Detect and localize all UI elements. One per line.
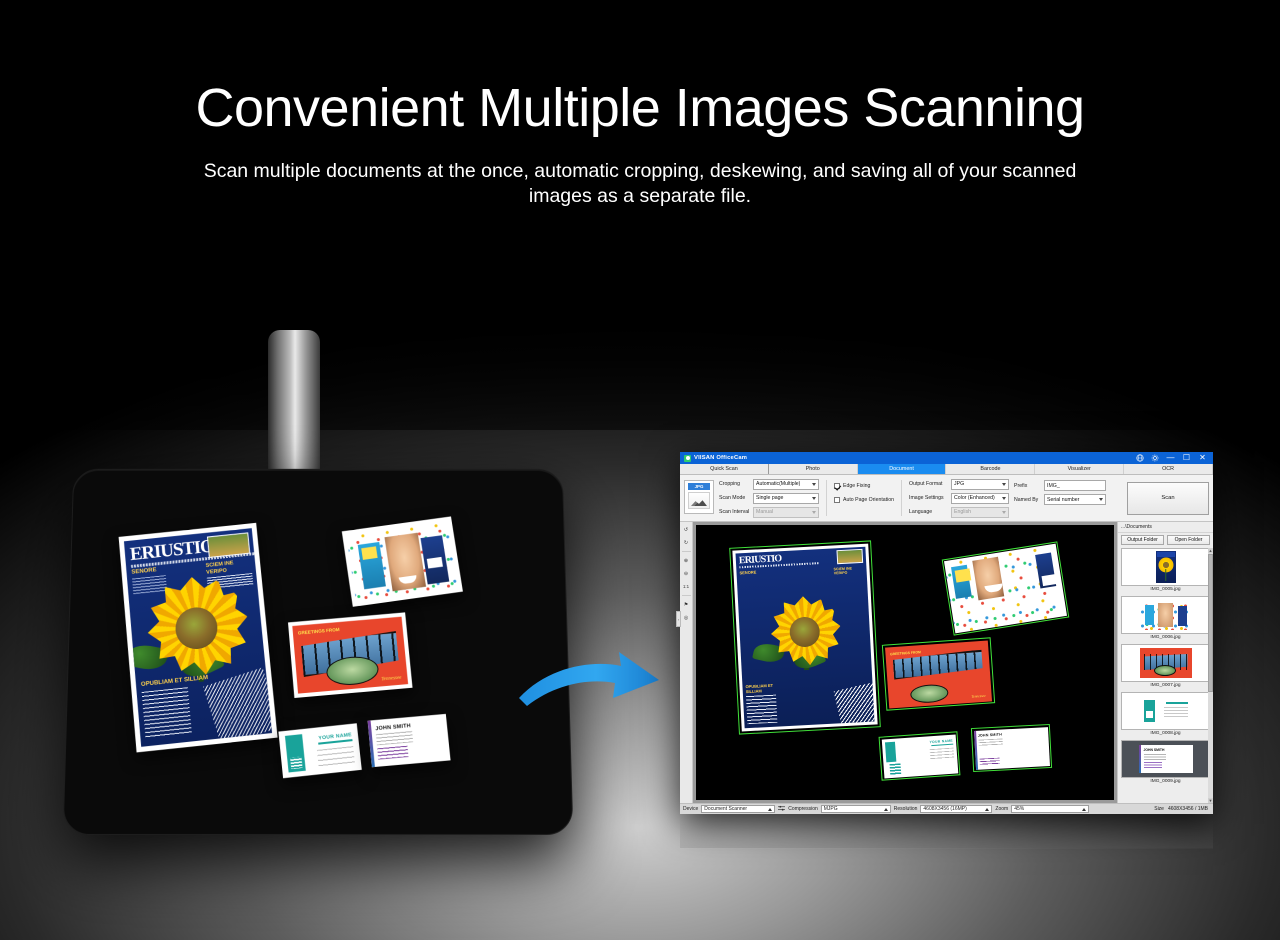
tab-quick-scan[interactable]: Quick Scan	[680, 464, 769, 474]
scanner-arm	[268, 330, 320, 490]
compression-select[interactable]: MJPG	[821, 805, 891, 813]
named-by-row: Named By Serial number	[1014, 494, 1106, 505]
app-logo-icon	[684, 455, 691, 462]
zoom-out-icon[interactable]: ⊖	[682, 569, 691, 578]
chevron-up-icon	[768, 808, 772, 811]
window-reflection	[680, 815, 1213, 849]
scan-mode-label: Scan Mode	[719, 495, 749, 501]
thumbnail-image-photo-collage[interactable]	[1121, 596, 1210, 634]
language-value: English	[954, 509, 971, 515]
named-by-select[interactable]: Serial number	[1044, 494, 1106, 505]
language-label: Language	[909, 509, 947, 515]
window-title: VIISAN OfficeCam	[694, 455, 747, 461]
crop-box-photo-collage[interactable]	[941, 541, 1069, 635]
prefix-input[interactable]: IMG_	[1044, 480, 1106, 491]
preview-sunflower	[767, 595, 843, 671]
preview-magazine-body	[746, 695, 777, 725]
language-row: Language English	[909, 507, 1009, 518]
scene-postcard: GREETINGS FROM Tennessee	[288, 612, 413, 698]
tab-document[interactable]: Document	[858, 464, 947, 474]
list-item[interactable]: IMG_0007.jpg	[1121, 644, 1210, 688]
named-by-label: Named By	[1014, 497, 1040, 503]
dark-card-lines-bottom	[377, 746, 408, 760]
thumbnail-dark-card-name: JOHN SMITH	[1144, 748, 1165, 752]
preview-pane[interactable]: ERIUSTIO SENORE SCIEM INE VERIPO	[693, 522, 1117, 803]
list-item[interactable]: IMG_0006.jpg	[1121, 596, 1210, 640]
magazine-body-text	[142, 687, 192, 738]
preview-dark-lines-bottom	[979, 757, 999, 765]
chevron-up-icon	[985, 808, 989, 811]
window-titlebar: VIISAN OfficeCam — ☐ ✕	[680, 452, 1213, 464]
window-body: ↺ ↻ ⊕ ⊖ 1:1 ⚑ ◎ ERIUSTIO SENORE	[680, 522, 1213, 803]
preview-postcard-oval	[909, 682, 948, 703]
named-by-value: Serial number	[1047, 497, 1079, 503]
folder-buttons: Output Folder Open Folder	[1118, 533, 1213, 548]
thumbnail-list[interactable]: IMG_0005.jpg IMG_0006.jpg	[1118, 548, 1213, 803]
magazine-kicker: SENORE	[131, 567, 157, 575]
zoom-value: 45%	[1014, 806, 1024, 812]
size-value: 4608X3456 / 1MB	[1168, 806, 1208, 812]
auto-page-orientation-checkbox[interactable]	[834, 497, 840, 503]
options-group: Edge Fixing Auto Page Orientation	[834, 478, 894, 518]
ribbon-divider-1	[826, 480, 827, 516]
thumbnail-scrollbar[interactable]: ▲ ▼	[1208, 548, 1213, 803]
device-label: Device	[683, 806, 698, 812]
cropping-select[interactable]: Automatic(Multiple)	[753, 479, 819, 490]
output-folder-button[interactable]: Output Folder	[1121, 535, 1164, 545]
chevron-down-icon	[812, 511, 816, 514]
cropping-label: Cropping	[719, 481, 749, 487]
prefix-row: Prefix IMG_	[1014, 480, 1106, 491]
hero-section: Convenient Multiple Images Scanning Scan…	[0, 80, 1280, 210]
scan-interval-row: Scan Interval Manual	[719, 507, 819, 518]
format-preview-image	[688, 492, 710, 509]
zoom-in-icon[interactable]: ⊕	[682, 556, 691, 565]
scan-button[interactable]: Scan	[1127, 482, 1209, 515]
thumbnail-image-business-card-dark[interactable]: JOHN SMITH	[1121, 740, 1210, 778]
scan-mode-row: Scan Mode Single page	[719, 493, 819, 504]
page-subtitle: Scan multiple documents at the once, aut…	[190, 159, 1090, 210]
image-settings-select[interactable]: Color (Enhanced)	[951, 493, 1009, 504]
preview-magazine-corner	[833, 683, 874, 729]
thumbnail-image-postcard[interactable]	[1121, 644, 1210, 682]
preview-postcard-state: Tennessee	[971, 693, 986, 698]
magazine-corner-text	[203, 667, 272, 746]
edge-fixing-row[interactable]: Edge Fixing	[834, 480, 894, 491]
output-settings-group: Output Format JPG Image Settings Color (…	[909, 478, 1009, 518]
officecam-window: VIISAN OfficeCam — ☐ ✕ Quick Scan Photo …	[680, 452, 1213, 814]
preview-teal-lines	[929, 747, 954, 759]
maximize-icon[interactable]: ☐	[1182, 454, 1191, 462]
tab-photo[interactable]: Photo	[769, 464, 858, 474]
list-item[interactable]: IMG_0008.jpg	[1121, 692, 1210, 736]
size-label: Size	[1154, 806, 1164, 812]
image-settings-label: Image Settings	[909, 495, 947, 501]
postcard-state: Tennessee	[381, 676, 402, 683]
preview-canvas[interactable]: ERIUSTIO SENORE SCIEM INE VERIPO	[696, 525, 1114, 800]
format-badge: JPG	[688, 483, 710, 490]
preview-postcard-greeting: GREETINGS FROM	[890, 649, 921, 655]
ribbon-divider-2	[901, 480, 902, 516]
thumbnail-filename: IMG_0006.jpg	[1121, 634, 1210, 640]
device-select[interactable]: Document Scanner	[701, 805, 775, 813]
thumbnail-image-business-card-teal[interactable]	[1121, 692, 1210, 730]
compression-value: MJPG	[824, 806, 838, 812]
window-controls: — ☐ ✕	[1136, 454, 1209, 462]
tab-visualizer[interactable]: Visualizer	[1035, 464, 1124, 474]
capture-settings-group: Cropping Automatic(Multiple) Scan Mode S…	[719, 478, 819, 518]
scroll-down-icon[interactable]: ▼	[1208, 798, 1213, 803]
crop-box-postcard[interactable]: GREETINGS FROM Tennessee	[882, 637, 995, 710]
preview-teal-sidebar	[884, 741, 895, 762]
resolution-value: 4608X3456 (16MP)	[923, 806, 966, 812]
auto-page-orientation-row[interactable]: Auto Page Orientation	[834, 494, 894, 505]
preview-teal-underline	[931, 743, 953, 746]
scene-photo-collage	[342, 516, 463, 606]
thumbnail-filename: IMG_0008.jpg	[1121, 730, 1210, 736]
chevron-down-icon	[1002, 497, 1006, 500]
gear-icon[interactable]	[1151, 454, 1159, 462]
toolbar-divider-1	[682, 551, 691, 552]
output-format-label: Output Format	[909, 481, 947, 487]
scanner-scene: ERIUSTIO SENORE SCIEM INE VERIPO OPUBLIA…	[60, 330, 620, 850]
compression-label: Compression	[788, 806, 817, 812]
actual-size-icon[interactable]: 1:1	[682, 582, 691, 591]
preview-toolbar: ↺ ↻ ⊕ ⊖ 1:1 ⚑ ◎	[680, 522, 693, 803]
status-bar: Device Document Scanner Compression MJPG…	[680, 803, 1213, 814]
language-select[interactable]: English	[951, 507, 1009, 518]
focus-icon[interactable]: ◎	[682, 613, 691, 622]
preview-dark-lines-top	[978, 738, 1002, 746]
panel-splitter-handle[interactable]: ‹	[676, 611, 681, 627]
scene-magazine: ERIUSTIO SENORE SCIEM INE VERIPO OPUBLIA…	[119, 523, 278, 753]
chevron-down-icon	[812, 483, 816, 486]
list-item[interactable]: IMG_0005.jpg	[1121, 548, 1210, 592]
scan-interval-label: Scan Interval	[719, 509, 749, 515]
edge-fixing-checkbox[interactable]	[834, 483, 840, 489]
cropping-value: Automatic(Multiple)	[756, 481, 800, 487]
mode-tabs: Quick Scan Photo Document Barcode Visual…	[680, 464, 1213, 475]
postcard-greeting: GREETINGS FROM	[298, 627, 340, 636]
crop-box-business-card-teal[interactable]: YOUR NAME	[878, 731, 960, 780]
teal-card-sidebar	[285, 734, 306, 772]
prefix-label: Prefix	[1014, 483, 1040, 489]
image-settings-row: Image Settings Color (Enhanced)	[909, 493, 1009, 504]
image-settings-value: Color (Enhanced)	[954, 495, 995, 501]
thumbnail-filename: IMG_0005.jpg	[1121, 586, 1210, 592]
rotate-left-icon[interactable]: ↺	[682, 525, 691, 534]
scene-business-card-dark: JOHN SMITH	[368, 714, 451, 767]
device-value: Document Scanner	[704, 806, 747, 812]
edge-fixing-label: Edge Fixing	[843, 483, 870, 489]
scroll-up-icon[interactable]: ▲	[1208, 548, 1213, 553]
preview-magazine-kicker: SENORE	[739, 570, 756, 576]
thumbnail-filename: IMG_0007.jpg	[1121, 682, 1210, 688]
scan-interval-value: Manual	[756, 509, 773, 515]
size-readout: Size 4608X3456 / 1MB	[1154, 806, 1210, 812]
thumbnails-panel: ‹ ...\Documents Output Folder Open Folde…	[1117, 522, 1213, 803]
chevron-down-icon	[812, 497, 816, 500]
preview-magazine-lower-headline: OPUBLIAM ET SILLIAM	[745, 682, 779, 694]
tab-ocr[interactable]: OCR	[1124, 464, 1213, 474]
resolution-select[interactable]: 4608X3456 (16MP)	[920, 805, 992, 813]
sliders-icon[interactable]	[778, 805, 785, 814]
output-path-label: ...\Documents	[1118, 522, 1213, 533]
chevron-up-icon	[1082, 808, 1086, 811]
auto-page-orientation-label: Auto Page Orientation	[843, 497, 894, 503]
rotate-right-icon[interactable]: ↻	[682, 538, 691, 547]
chevron-down-icon	[1002, 511, 1006, 514]
dark-card-lines-top	[376, 731, 413, 745]
chevron-up-icon	[884, 808, 888, 811]
toolbar-divider-2	[682, 595, 691, 596]
teal-card-lines	[317, 746, 355, 768]
chevron-down-icon	[1099, 498, 1103, 501]
crop-box-business-card-dark[interactable]: JOHN SMITH	[971, 724, 1053, 772]
dark-card-edge	[368, 720, 375, 767]
crop-box-magazine[interactable]: ERIUSTIO SENORE SCIEM INE VERIPO	[729, 541, 881, 735]
thumbnail-filename: IMG_0009.jpg	[1121, 778, 1210, 784]
scan-interval-select[interactable]: Manual	[753, 507, 819, 518]
page-title: Convenient Multiple Images Scanning	[0, 80, 1280, 137]
settings-ribbon: JPG Cropping Automatic(Multiple) Scan Mo…	[680, 475, 1213, 522]
list-item[interactable]: JOHN SMITH IMG_0009.jpg	[1121, 740, 1210, 784]
prefix-value: IMG_	[1047, 483, 1060, 489]
output-format-row: Output Format JPG	[909, 479, 1009, 490]
scan-mode-value: Single page	[756, 495, 783, 501]
scrollbar-thumb[interactable]	[1208, 554, 1213, 692]
flow-arrow	[515, 650, 665, 720]
close-icon[interactable]: ✕	[1198, 454, 1207, 462]
format-preview-thumb: JPG	[684, 480, 714, 514]
scanner-mat: ERIUSTIO SENORE SCIEM INE VERIPO OPUBLIA…	[63, 469, 574, 835]
tab-barcode[interactable]: Barcode	[946, 464, 1035, 474]
globe-icon[interactable]	[1136, 454, 1144, 462]
cropping-row: Cropping Automatic(Multiple)	[719, 479, 819, 490]
output-format-select[interactable]: JPG	[951, 479, 1009, 490]
preview-magazine-side-headline: SCIEM INE VERIPO	[833, 566, 863, 576]
resolution-label: Resolution	[894, 806, 918, 812]
output-format-value: JPG	[954, 481, 964, 487]
stamp-icon[interactable]: ⚑	[682, 600, 691, 609]
sunflower-illustration	[140, 572, 253, 685]
zoom-label: Zoom	[995, 806, 1008, 812]
minimize-icon[interactable]: —	[1166, 454, 1175, 462]
scene-business-card-teal: YOUR NAME	[278, 723, 361, 778]
preview-magazine-inset	[836, 549, 863, 564]
chevron-down-icon	[1002, 483, 1006, 486]
zoom-select[interactable]: 45%	[1011, 805, 1089, 813]
scan-mode-select[interactable]: Single page	[753, 493, 819, 504]
open-folder-button[interactable]: Open Folder	[1167, 535, 1210, 545]
naming-group: Prefix IMG_ Named By Serial number	[1014, 478, 1106, 518]
magazine-inset-photo	[207, 532, 250, 558]
preview-dark-name: JOHN SMITH	[978, 732, 1002, 737]
thumbnail-image-magazine[interactable]	[1121, 548, 1210, 586]
